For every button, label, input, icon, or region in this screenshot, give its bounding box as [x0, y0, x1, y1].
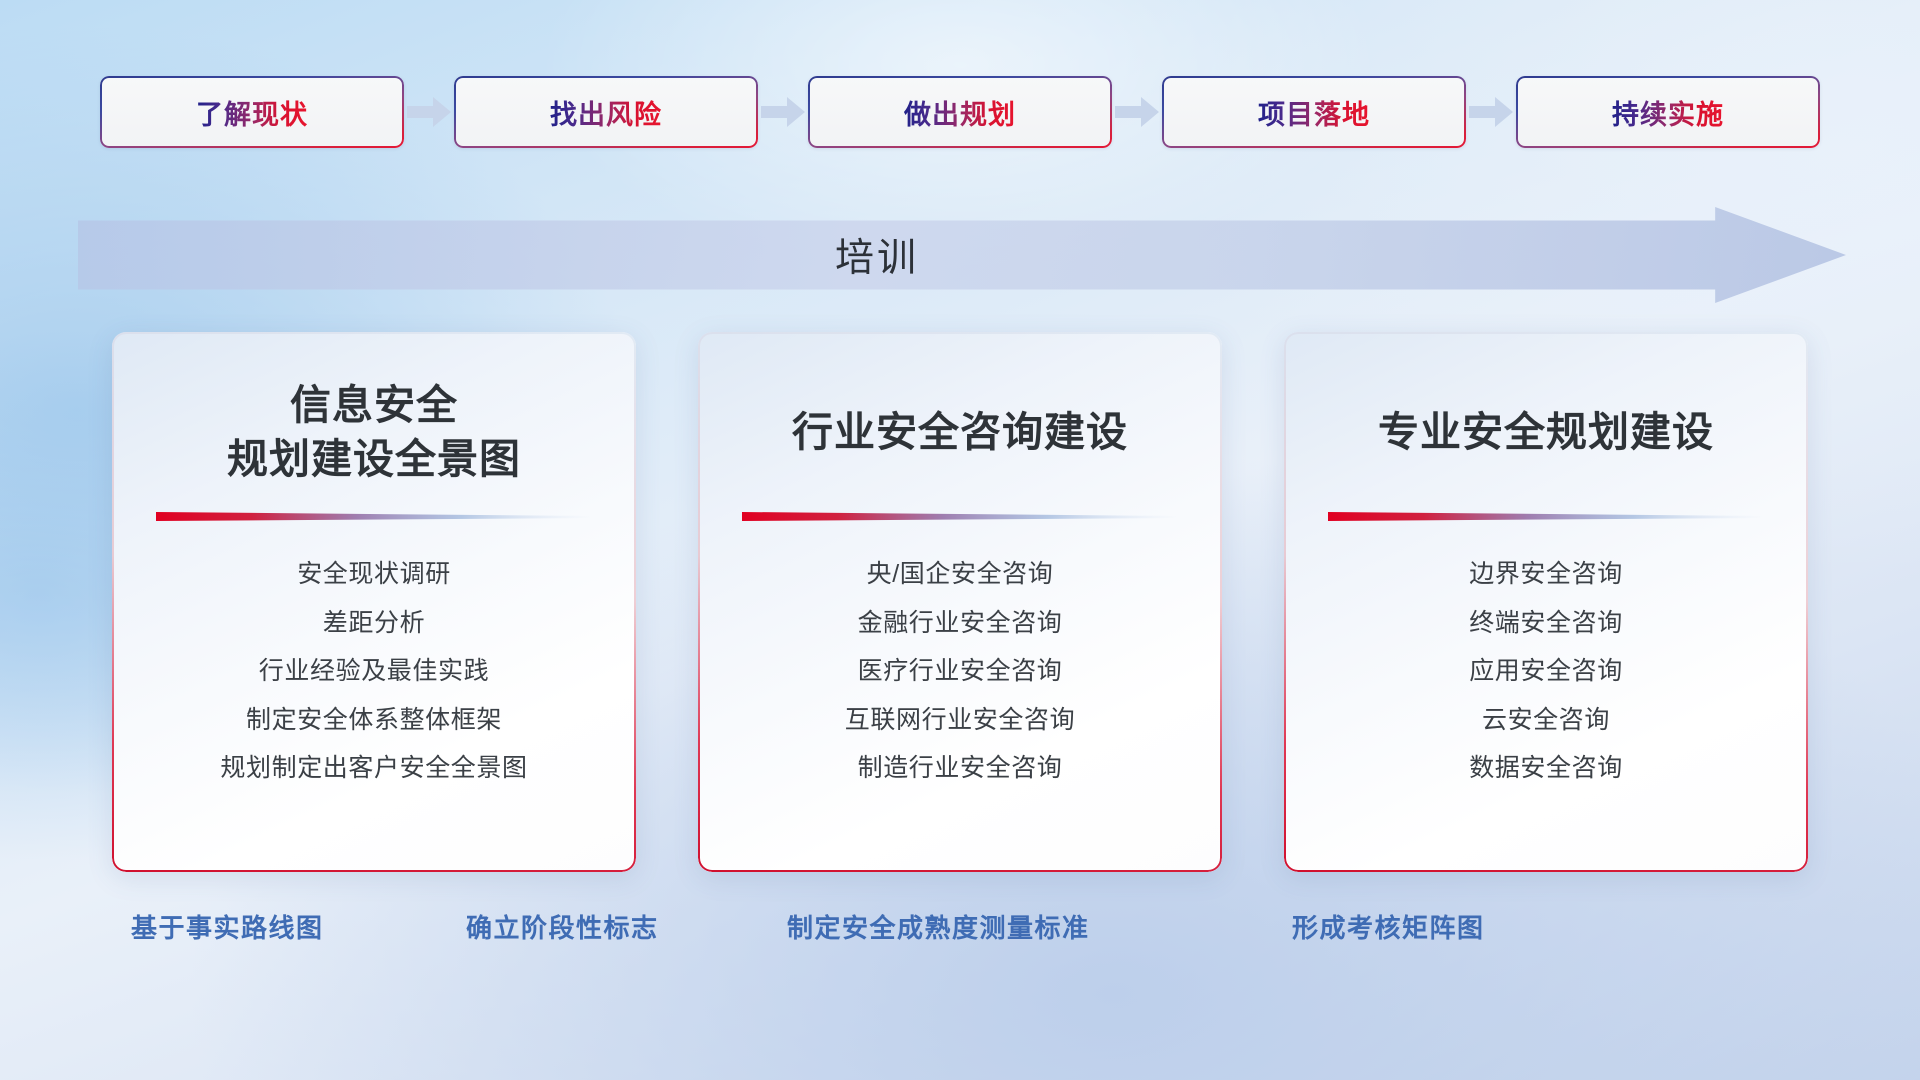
footer-label-1: 基于事实路线图 — [131, 908, 324, 945]
footer-label-row: 基于事实路线图 确立阶段性标志 制定安全成熟度测量标准 形成考核矩阵图 — [0, 908, 1920, 960]
step-label-4: 项目落地 — [1258, 93, 1370, 132]
process-step-flow: 了解现状 找出风险 做出规划 项目落地 — [0, 76, 1920, 148]
list-item: 制造行业安全咨询 — [732, 750, 1188, 788]
card-1-title-line-2: 规划建设全景图 — [227, 432, 521, 486]
card-3-inner: 专业安全规划建设 — [1284, 332, 1808, 788]
footer-label-2: 确立阶段性标志 — [466, 908, 659, 945]
list-item: 金融行业安全咨询 — [732, 605, 1188, 643]
step-arrow-icon-1 — [404, 76, 454, 148]
step-label-3: 做出规划 — [904, 93, 1016, 132]
card-1-title: 信息安全 规划建设全景图 — [146, 376, 602, 488]
list-item: 差距分析 — [146, 605, 602, 643]
list-item: 边界安全咨询 — [1318, 556, 1774, 594]
list-item: 央/国企安全咨询 — [732, 556, 1188, 594]
footer-label-3: 制定安全成熟度测量标准 — [787, 908, 1090, 945]
list-item: 行业经验及最佳实践 — [146, 653, 602, 691]
list-item: 制定安全体系整体框架 — [146, 702, 602, 740]
banner-title: 培训 — [78, 207, 1846, 303]
card-2[interactable]: 行业安全咨询建设 — [698, 332, 1222, 872]
slide-stage: 了解现状 找出风险 做出规划 项目落地 — [0, 0, 1920, 1080]
card-2-title-line-1: 行业安全咨询建设 — [792, 405, 1128, 459]
card-1-title-line-1: 信息安全 — [227, 378, 521, 432]
list-item: 终端安全咨询 — [1318, 605, 1774, 643]
step-box-1[interactable]: 了解现状 — [100, 76, 404, 148]
step-label-1: 了解现状 — [196, 93, 308, 132]
list-item: 数据安全咨询 — [1318, 750, 1774, 788]
step-box-5[interactable]: 持续实施 — [1516, 76, 1820, 148]
step-arrow-icon-3 — [1112, 76, 1162, 148]
card-2-list: 央/国企安全咨询 金融行业安全咨询 医疗行业安全咨询 互联网行业安全咨询 制造行… — [732, 556, 1188, 788]
list-item: 应用安全咨询 — [1318, 653, 1774, 691]
step-arrow-icon-2 — [758, 76, 808, 148]
card-3-divider — [1328, 510, 1764, 522]
step-arrow-icon-4 — [1466, 76, 1516, 148]
card-1-inner: 信息安全 规划建设全景图 — [112, 332, 636, 788]
card-3-list: 边界安全咨询 终端安全咨询 应用安全咨询 云安全咨询 数据安全咨询 — [1318, 556, 1774, 788]
list-item: 云安全咨询 — [1318, 702, 1774, 740]
card-1[interactable]: 信息安全 规划建设全景图 — [112, 332, 636, 872]
card-2-title: 行业安全咨询建设 — [732, 376, 1188, 488]
list-item: 安全现状调研 — [146, 556, 602, 594]
card-2-divider — [742, 510, 1178, 522]
card-1-divider — [156, 510, 592, 522]
training-banner: 培训 — [78, 207, 1846, 303]
step-box-3[interactable]: 做出规划 — [808, 76, 1112, 148]
list-item: 规划制定出客户安全全景图 — [146, 750, 602, 788]
card-3-title: 专业安全规划建设 — [1318, 376, 1774, 488]
step-label-5: 持续实施 — [1612, 93, 1724, 132]
step-box-2[interactable]: 找出风险 — [454, 76, 758, 148]
step-box-4[interactable]: 项目落地 — [1162, 76, 1466, 148]
list-item: 互联网行业安全咨询 — [732, 702, 1188, 740]
step-label-2: 找出风险 — [550, 93, 662, 132]
footer-label-4: 形成考核矩阵图 — [1292, 908, 1485, 945]
card-3[interactable]: 专业安全规划建设 — [1284, 332, 1808, 872]
list-item: 医疗行业安全咨询 — [732, 653, 1188, 691]
card-group: 信息安全 规划建设全景图 — [0, 332, 1920, 872]
card-2-inner: 行业安全咨询建设 — [698, 332, 1222, 788]
card-1-list: 安全现状调研 差距分析 行业经验及最佳实践 制定安全体系整体框架 规划制定出客户… — [146, 556, 602, 788]
card-3-title-line-1: 专业安全规划建设 — [1378, 405, 1714, 459]
